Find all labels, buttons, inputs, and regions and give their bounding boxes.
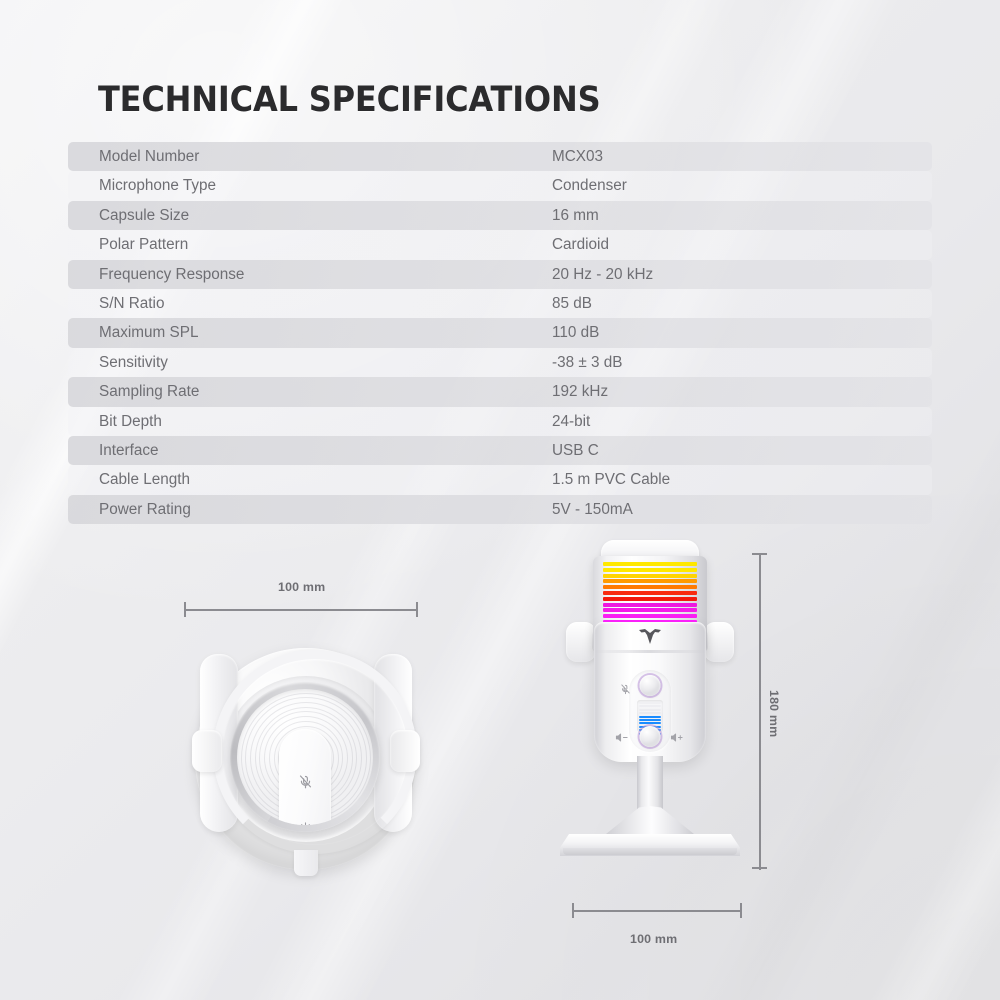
table-row: Capsule Size16 mm xyxy=(68,201,932,230)
spec-value: 24-bit xyxy=(552,407,590,436)
spec-value: 85 dB xyxy=(552,289,592,318)
spec-label: Power Rating xyxy=(99,495,191,524)
meter-bar xyxy=(639,702,661,704)
volume-up-icon xyxy=(670,730,684,748)
table-row: Sampling Rate192 kHz xyxy=(68,377,932,406)
yoke-arm-right xyxy=(704,622,734,662)
meter-bar xyxy=(639,716,661,718)
rgb-stripe xyxy=(603,591,697,595)
table-row: Power Rating5V - 150mA xyxy=(68,495,932,524)
microphone-front-view xyxy=(560,534,740,879)
meter-bar xyxy=(639,712,661,714)
spec-value: USB C xyxy=(552,436,599,465)
dimension-cap xyxy=(740,903,742,918)
pivot-knob-left xyxy=(192,730,222,772)
table-row: Model NumberMCX03 xyxy=(68,142,932,171)
spec-label: Frequency Response xyxy=(99,260,244,289)
dimension-line-front-width xyxy=(572,910,742,912)
table-row: Frequency Response20 Hz - 20 kHz xyxy=(68,260,932,289)
gain-knob[interactable] xyxy=(640,675,661,696)
rgb-stripe xyxy=(603,562,697,566)
page-title: TECHNICAL SPECIFICATIONS xyxy=(98,80,600,120)
meter-bar xyxy=(639,722,661,724)
rgb-stripe xyxy=(603,603,697,607)
meter-bar xyxy=(639,709,661,711)
dimension-line-height xyxy=(759,553,761,870)
rgb-stripe xyxy=(603,585,697,589)
rgb-stripe xyxy=(603,568,697,572)
pivot-knob-right xyxy=(390,730,420,772)
dimension-cap xyxy=(572,903,574,918)
table-row: Cable Length1.5 m PVC Cable xyxy=(68,465,932,494)
rgb-stripe xyxy=(603,614,697,618)
table-row: Bit Depth24-bit xyxy=(68,407,932,436)
mute-mic-icon xyxy=(279,773,331,795)
fantech-bat-logo xyxy=(638,628,662,645)
volume-knob[interactable] xyxy=(640,726,661,747)
spec-label: Microphone Type xyxy=(99,171,216,200)
meter-bar xyxy=(639,705,661,707)
stem-connector-top xyxy=(294,850,318,876)
spec-label: Sampling Rate xyxy=(99,377,199,406)
table-row: S/N Ratio85 dB xyxy=(68,289,932,318)
dimension-cap xyxy=(752,553,767,555)
dimension-cap xyxy=(752,867,767,869)
grille-outer-ring xyxy=(230,682,380,832)
spec-table: Model NumberMCX03Microphone TypeCondense… xyxy=(68,142,932,524)
dimension-cap xyxy=(416,602,418,617)
spec-label: S/N Ratio xyxy=(99,289,164,318)
control-panel-front xyxy=(629,670,671,752)
grille-face xyxy=(237,689,373,825)
dimension-label-front-width: 100 mm xyxy=(630,932,677,946)
spec-label: Maximum SPL xyxy=(99,318,198,347)
table-row: InterfaceUSB C xyxy=(68,436,932,465)
stand-base-lip xyxy=(563,848,737,855)
spec-label: Capsule Size xyxy=(99,201,189,230)
mute-mic-icon xyxy=(620,682,631,700)
microphone-top-view xyxy=(186,634,426,884)
table-row: Sensitivity-38 ± 3 dB xyxy=(68,348,932,377)
meter-bar xyxy=(639,719,661,721)
dimension-cap xyxy=(184,602,186,617)
table-row: Maximum SPL110 dB xyxy=(68,318,932,347)
spec-sheet: TECHNICAL SPECIFICATIONS Model NumberMCX… xyxy=(0,0,1000,1000)
spec-value: 5V - 150mA xyxy=(552,495,633,524)
spec-value: Cardioid xyxy=(552,230,609,259)
control-panel-top xyxy=(279,729,331,825)
spec-value: 192 kHz xyxy=(552,377,608,406)
dimension-label-top-width: 100 mm xyxy=(278,580,325,594)
spec-label: Polar Pattern xyxy=(99,230,188,259)
spec-value: -38 ± 3 dB xyxy=(552,348,622,377)
rgb-stripe xyxy=(603,608,697,612)
spec-value: 1.5 m PVC Cable xyxy=(552,465,670,494)
spec-label: Cable Length xyxy=(99,465,190,494)
spec-label: Sensitivity xyxy=(99,348,168,377)
rgb-stripe xyxy=(603,574,697,578)
spec-value: MCX03 xyxy=(552,142,603,171)
spec-value: Condenser xyxy=(552,171,627,200)
brightness-icon xyxy=(279,822,331,825)
spec-value: 20 Hz - 20 kHz xyxy=(552,260,653,289)
dimension-label-height: 180 mm xyxy=(767,690,781,737)
table-row: Microphone TypeCondenser xyxy=(68,171,932,200)
body-seam xyxy=(594,650,706,653)
spec-label: Bit Depth xyxy=(99,407,162,436)
dimension-line-top-width xyxy=(184,609,418,611)
spec-label: Model Number xyxy=(99,142,199,171)
table-row: Polar PatternCardioid xyxy=(68,230,932,259)
spec-label: Interface xyxy=(99,436,159,465)
spec-value: 110 dB xyxy=(552,318,599,347)
spec-value: 16 mm xyxy=(552,201,599,230)
rgb-stripe xyxy=(603,579,697,583)
volume-down-icon xyxy=(615,730,629,748)
rgb-stripe xyxy=(603,597,697,601)
